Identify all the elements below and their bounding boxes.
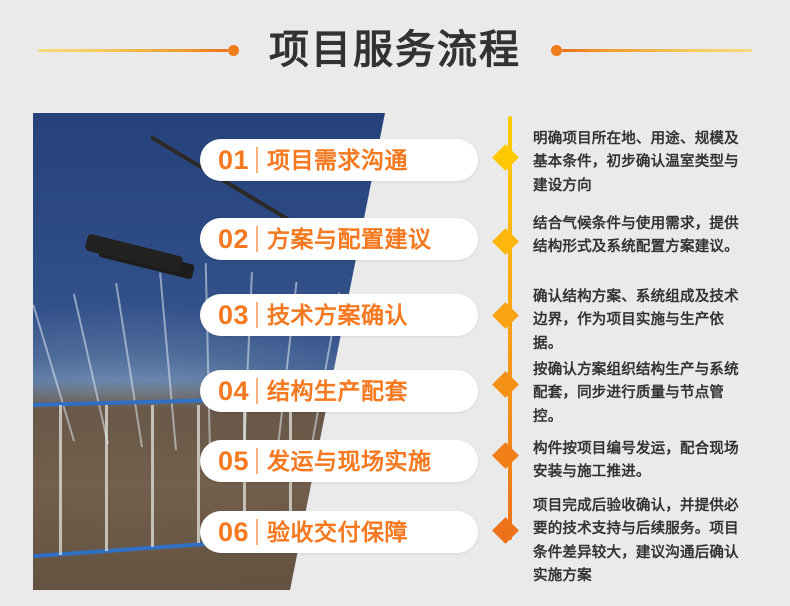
greenhouse-rib: [115, 283, 143, 447]
decoration-dot-left-icon: [228, 45, 239, 56]
step-number: 03: [218, 302, 249, 329]
step-divider-icon: [256, 147, 258, 173]
step-description-06: 项目完成后验收确认，并提供必要的技术支持与后续服务。项目条件差异较大，建议沟通后…: [533, 495, 739, 589]
step-number: 06: [218, 519, 249, 546]
step-divider-icon: [256, 378, 258, 404]
step-description-01: 明确项目所在地、用途、规模及基本条件，初步确认温室类型与建设方向: [533, 128, 739, 198]
step-divider-icon: [256, 519, 258, 545]
step-description-02: 结合气候条件与使用需求，提供结构形式及系统配置方案建议。: [533, 213, 739, 260]
step-description-04: 按确认方案组织结构生产与系统配套，同步进行质量与节点管控。: [533, 359, 739, 429]
greenhouse-rib: [159, 273, 177, 450]
step-number: 01: [218, 147, 249, 174]
step-label: 发运与现场实施: [267, 450, 432, 473]
step-label: 验收交付保障: [267, 521, 408, 544]
timeline-diamond-marker-01: [492, 144, 519, 171]
timeline-diamond-marker-02: [492, 228, 519, 255]
ground-post: [105, 405, 108, 551]
step-description-05: 构件按项目编号发运，配合现场安装与施工推进。: [533, 438, 739, 485]
ground-post: [59, 405, 62, 555]
step-label: 项目需求沟通: [267, 149, 408, 172]
step-description-03: 确认结构方案、系统组成及技术边界，作为项目实施与生产依据。: [533, 286, 739, 356]
step-number: 04: [218, 378, 249, 405]
step-pill-04[interactable]: 04结构生产配套: [200, 370, 478, 412]
step-label: 技术方案确认: [267, 304, 408, 327]
timeline-diamond-marker-03: [492, 302, 519, 329]
decoration-dot-right-icon: [551, 45, 562, 56]
page-title: 项目服务流程: [269, 30, 521, 70]
step-pill-06[interactable]: 06验收交付保障: [200, 511, 478, 553]
step-divider-icon: [256, 226, 258, 252]
step-number: 05: [218, 448, 249, 475]
step-label: 方案与配置建议: [267, 228, 432, 251]
step-divider-icon: [256, 302, 258, 328]
ground-post: [197, 405, 200, 543]
timeline-diamond-marker-04: [492, 371, 519, 398]
header-decoration-right: [551, 40, 752, 60]
step-label: 结构生产配套: [267, 380, 408, 403]
greenhouse-rib: [73, 294, 109, 445]
step-number: 02: [218, 226, 249, 253]
greenhouse-rib: [33, 305, 75, 442]
decoration-line-left-icon: [38, 49, 228, 52]
timeline-diamond-marker-06: [492, 517, 519, 544]
shade-roll-decoration: [84, 233, 183, 273]
step-pill-03[interactable]: 03技术方案确认: [200, 294, 478, 336]
ground-post: [151, 405, 154, 547]
step-pill-05[interactable]: 05发运与现场实施: [200, 440, 478, 482]
step-divider-icon: [256, 448, 258, 474]
timeline-diamond-marker-05: [492, 442, 519, 469]
timeline-axis: [508, 116, 512, 540]
step-pill-02[interactable]: 02方案与配置建议: [200, 218, 478, 260]
header-decoration-left: [38, 40, 239, 60]
page-header: 项目服务流程: [0, 0, 790, 100]
decoration-line-right-icon: [562, 49, 752, 52]
greenhouse-rib: [205, 263, 211, 453]
step-pill-01[interactable]: 01项目需求沟通: [200, 139, 478, 181]
